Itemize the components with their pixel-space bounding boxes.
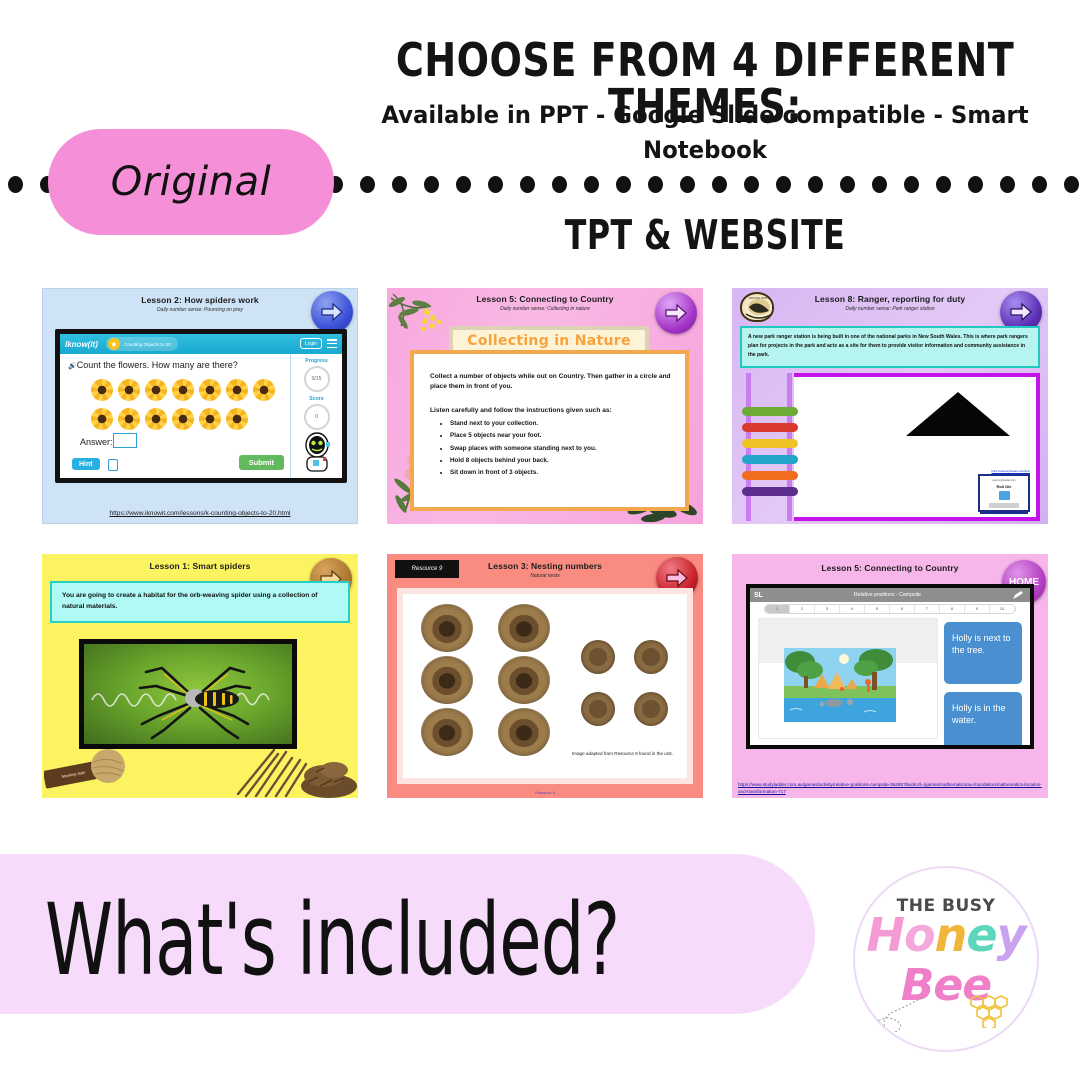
divider-dot — [808, 176, 823, 193]
image-caption: Image adapted from Resource 9 found in t… — [572, 751, 673, 756]
sentence-card-text: Holly is in the water. — [944, 692, 1022, 736]
roll-dice-button[interactable] — [989, 503, 1019, 508]
triangle-shape — [906, 392, 1010, 436]
nest-small — [581, 640, 615, 674]
slide-title: Lesson 8: Ranger, reporting for duty — [732, 294, 1048, 304]
topic-pill-label: Counting Objects to 20 — [124, 342, 171, 347]
score-ring: 0 — [304, 404, 330, 430]
theme-badge-original: Original — [48, 129, 334, 235]
resource-url[interactable]: https://www.studyladder.com.au/games/act… — [738, 782, 1044, 796]
divider-dot — [840, 176, 855, 193]
hint-button[interactable]: Hint — [72, 458, 100, 470]
theme-badge-label: Original — [111, 159, 272, 205]
speaker-icon[interactable]: 🔊 — [68, 363, 77, 370]
logo-line-honey: Honey — [855, 908, 1037, 962]
whats-included-label: What's included? — [45, 882, 619, 998]
paragraph-2: Listen carefully and follow the instruct… — [430, 406, 671, 416]
page-tab[interactable]: 2 — [790, 605, 815, 613]
studyladder-logo: SL — [754, 592, 763, 599]
iknowit-app-window[interactable]: Iknow(it) ★ Counting Objects to 20 Login… — [55, 329, 347, 483]
sentence-card[interactable]: Holly is next to the tree. — [944, 622, 1022, 684]
topic-pill: ★ Counting Objects to 20 — [106, 337, 178, 351]
divider-dot — [392, 176, 407, 193]
divider-dot — [904, 176, 919, 193]
divider-dot — [872, 176, 887, 193]
resource-url[interactable]: https://www.iknowit.com/lessons/k-counti… — [43, 510, 357, 517]
flower-icon — [118, 379, 140, 401]
content-card: Collect a number of objects while out on… — [410, 350, 689, 511]
progress-sidebar: Progress 0/15 Score 0 — [290, 354, 342, 478]
divider-dot — [424, 176, 439, 193]
login-button[interactable]: Login — [300, 338, 322, 349]
page-tab[interactable]: 1 — [765, 605, 790, 613]
twine-and-label-icon: Masking tape — [44, 738, 140, 796]
instruction-text: You are going to create a habitat for th… — [52, 583, 348, 620]
page-tab[interactable]: 8 — [940, 605, 965, 613]
instruction-list-item: Stand next to your collection. — [450, 418, 671, 430]
divider-dot — [680, 176, 695, 193]
paragraph-1: Collect a number of objects while out on… — [430, 372, 671, 391]
divider-dot — [488, 176, 503, 193]
slide-title: Lesson 5: Connecting to Country — [732, 563, 1048, 573]
popsicle-stick[interactable] — [742, 455, 798, 464]
page-subtitle: Available in PPT - Google Slide compatib… — [373, 98, 1038, 168]
section-banner-title: Collecting in Nature — [467, 333, 631, 349]
nest-large — [498, 604, 550, 652]
pencil-icon[interactable] — [1012, 590, 1024, 600]
dice-widget-title: Roll Die — [980, 484, 1028, 489]
answer-input[interactable] — [113, 433, 137, 448]
slide-title: Lesson 1: Smart spiders — [42, 561, 358, 571]
dice-widget[interactable]: www.toytheater.com Roll Die — [978, 474, 1030, 512]
dice-url[interactable]: https://www.toytheater.com/dice/ — [991, 470, 1030, 473]
flower-icon — [199, 408, 221, 430]
nest-large — [421, 708, 473, 756]
slide-title: Lesson 2: How spiders work — [43, 295, 357, 305]
app-top-bar: Iknow(it) ★ Counting Objects to 20 Login — [60, 334, 342, 354]
page-tabs[interactable]: 12345678910 — [764, 604, 1016, 614]
divider-dot — [1032, 176, 1047, 193]
progress-label: Progress — [291, 358, 342, 364]
page-tab[interactable]: 4 — [840, 605, 865, 613]
divider-dot — [744, 176, 759, 193]
divider-dot — [584, 176, 599, 193]
work-area[interactable]: https://www.toytheater.com/dice/ www.toy… — [794, 373, 1040, 521]
nest-large — [421, 656, 473, 704]
flower-icon — [253, 379, 275, 401]
flower-icon — [199, 379, 221, 401]
instruction-list-item: Hold 8 objects behind your back. — [450, 455, 671, 467]
honeycomb-icon — [969, 994, 1015, 1028]
studyladder-app-window[interactable]: SL Relative positions - Campsite 1234567… — [746, 584, 1034, 749]
slide-thumbnail-smart-spiders[interactable]: Lesson 1: Smart spiders You are going to… — [42, 554, 358, 798]
nest-small — [634, 640, 668, 674]
spider-photo — [79, 639, 297, 749]
flower-icon — [91, 408, 113, 430]
instruction-list-item: Place 5 objects near your foot. — [450, 430, 671, 442]
flower-icon — [226, 408, 248, 430]
app-window-title: Relative positions - Campsite — [763, 592, 1012, 598]
sentence-card-text: Holly is next to the tree. — [944, 622, 1022, 666]
nest-large — [421, 604, 473, 652]
info-text: A new park ranger station is being built… — [742, 328, 1038, 365]
hamburger-menu-icon[interactable] — [327, 339, 337, 349]
question-text: 🔊Count the flowers. How many are there? — [68, 360, 238, 370]
slide-thumbnail-collecting-nature[interactable]: Lesson 5: Connecting to Country Daily nu… — [387, 288, 703, 524]
divider-dot — [616, 176, 631, 193]
iknowit-logo: Iknow(it) — [65, 340, 98, 349]
score-label: Score — [291, 396, 342, 402]
nest-image-card: Image adapted from Resource 9 found in t… — [397, 588, 693, 784]
page-tab[interactable]: 6 — [890, 605, 915, 613]
mulch-pile-icon — [300, 752, 358, 798]
slide-thumbnail-relative-positions[interactable]: Lesson 5: Connecting to Country HOME SL … — [732, 554, 1048, 798]
divider-dot — [1000, 176, 1015, 193]
slide-thumbnail-ranger[interactable]: NATIONAL PARKS Lesson 8: Ranger, reporti… — [732, 288, 1048, 524]
sentence-card[interactable]: Holly is in the water. — [944, 692, 1022, 749]
flower-icon — [91, 379, 113, 401]
nest-large — [498, 708, 550, 756]
nest-small — [581, 692, 615, 726]
popsicle-stick-ladder — [742, 373, 798, 521]
popsicle-stick[interactable] — [742, 423, 798, 432]
submit-button[interactable]: Submit — [239, 455, 284, 470]
die-face-icon — [999, 491, 1010, 500]
divider-dot — [1064, 176, 1079, 193]
star-icon: ★ — [108, 338, 120, 350]
flower-group — [88, 378, 303, 436]
page-tab[interactable]: 9 — [965, 605, 990, 613]
divider-dot — [456, 176, 471, 193]
slide-footer: Resource 9 — [387, 791, 703, 795]
brand-logo: THE BUSY Honey Bee — [853, 866, 1039, 1052]
answer-label: Answer: — [80, 437, 113, 447]
divider-dot — [360, 176, 375, 193]
popsicle-stick[interactable] — [742, 471, 798, 480]
slide-subtitle: Daily number sense: Pouncing on prey — [43, 307, 357, 313]
app-title-bar: SL Relative positions - Campsite — [750, 588, 1030, 602]
next-arrow-icon[interactable] — [655, 292, 697, 334]
flower-icon — [172, 408, 194, 430]
info-panel: A new park ranger station is being built… — [740, 326, 1040, 368]
divider-dot — [552, 176, 567, 193]
flower-icon — [145, 379, 167, 401]
page-tab[interactable]: 5 — [865, 605, 890, 613]
nest-large — [498, 656, 550, 704]
instruction-panel: You are going to create a habitat for th… — [50, 581, 350, 623]
page-tab[interactable]: 7 — [915, 605, 940, 613]
divider-dot — [648, 176, 663, 193]
popsicle-stick[interactable] — [742, 487, 798, 496]
divider-dot — [936, 176, 951, 193]
bee-trail-icon — [869, 978, 939, 1032]
whats-included-banner: What's included? — [0, 854, 815, 1014]
divider-dot — [776, 176, 791, 193]
tpt-website-label: TPT & WEBSITE — [397, 212, 1013, 259]
next-arrow-icon[interactable] — [311, 291, 353, 333]
slide-title: Lesson 3: Nesting numbers — [387, 561, 703, 571]
popsicle-stick[interactable] — [742, 407, 798, 416]
flower-icon — [118, 408, 140, 430]
flower-icon — [145, 408, 167, 430]
widget-footer-bar — [980, 510, 1028, 514]
poster-root: CHOOSE FROM 4 DIFFERENT THEMES: Availabl… — [0, 0, 1080, 1080]
page-tab[interactable]: 3 — [815, 605, 840, 613]
divider-dot — [968, 176, 983, 193]
flower-icon — [172, 379, 194, 401]
divider-dot — [520, 176, 535, 193]
instruction-list: Stand next to your collection.Place 5 ob… — [450, 418, 671, 479]
progress-ring: 0/15 — [304, 366, 330, 392]
lock-icon[interactable] — [108, 459, 118, 471]
nest-small — [634, 692, 668, 726]
instruction-list-item: Swap places with someone standing next t… — [450, 443, 671, 455]
page-tab[interactable]: 10 — [990, 605, 1015, 613]
divider-dot — [8, 176, 23, 193]
astronaut-mascot-icon — [299, 432, 335, 476]
instruction-list-item: Sit down in front of 3 objects. — [450, 467, 671, 479]
popsicle-stick[interactable] — [742, 439, 798, 448]
campsite-illustration — [784, 648, 896, 722]
flower-icon — [226, 379, 248, 401]
slide-thumbnail-nesting-numbers[interactable]: Resource 9 Lesson 3: Nesting numbers Nat… — [387, 554, 703, 798]
slide-thumbnail-iknowit[interactable]: Lesson 2: How spiders work Daily number … — [42, 288, 358, 524]
divider-dot — [712, 176, 727, 193]
